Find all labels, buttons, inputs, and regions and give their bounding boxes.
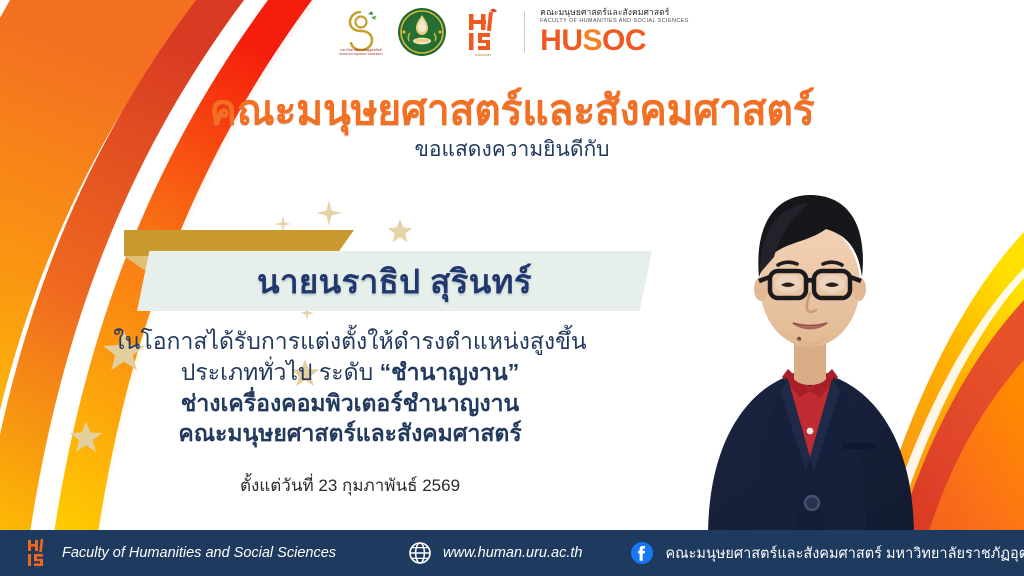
footer-brand: Faculty of Humanities and Social Science… — [24, 538, 336, 568]
uru-anniversary-emblem-icon: มหาวิทยาลัยราชภัฏอุตรดิตถ์ UTTARADIT RAJ… — [335, 6, 387, 58]
header-logo-row: มหาวิทยาลัยราชภัฏอุตรดิตถ์ UTTARADIT RAJ… — [0, 6, 1024, 58]
svg-text:HUMANITIES: HUMANITIES — [475, 53, 492, 57]
husoc-wordmark-oc: OC — [602, 24, 646, 57]
citation-line-2-prefix: ประเภททั่วไป ระดับ — [181, 359, 380, 385]
congratulations-banner: มหาวิทยาลัยราชภัฏอุตรดิตถ์ UTTARADIT RAJ… — [0, 0, 1024, 576]
footer-bar: Faculty of Humanities and Social Science… — [0, 530, 1024, 576]
huhs-monogram-icon — [24, 538, 50, 568]
husoc-wordmark: HUSOC — [540, 26, 689, 56]
husoc-wordmark-s: S — [583, 24, 603, 57]
footer-facebook-link[interactable]: คณะมนุษยศาสตร์และสังคมศาสตร์ มหาวิทยาลัย… — [630, 541, 1024, 565]
five-point-star-icon — [387, 218, 413, 249]
footer-website-link[interactable]: www.human.uru.ac.th — [408, 541, 582, 565]
sparkle-star-icon — [316, 200, 342, 231]
huhs-monogram-icon: HUMANITIES — [457, 6, 509, 58]
honoree-name: นายนราธิป สุรินทร์ — [257, 255, 532, 308]
citation-line-2-level: “ชำนาญงาน” — [380, 359, 520, 385]
citation-line-2: ประเภททั่วไป ระดับ “ชำนาญงาน” — [70, 357, 630, 388]
husoc-wordmark-hu: HU — [540, 24, 582, 57]
citation-line-4: คณะมนุษยศาสตร์และสังคมศาสตร์ — [70, 418, 630, 449]
footer-facebook-name: คณะมนุษยศาสตร์และสังคมศาสตร์ มหาวิทยาลัย… — [665, 542, 1024, 565]
logo-divider — [524, 11, 525, 53]
citation-text: ในโอกาสได้รับการแต่งตั้งให้ดำรงตำแหน่งสู… — [70, 326, 630, 449]
honoree-name-ribbon: นายนราธิป สุรินทร์ — [137, 251, 652, 311]
footer-faculty-name: Faculty of Humanities and Social Science… — [62, 545, 336, 561]
honoree-portrait — [660, 125, 960, 537]
husoc-wordmark-block: คณะมนุษยศาสตร์และสังคมศาสตร์ FACULTY OF … — [540, 8, 689, 55]
citation-line-3: ช่างเครื่องคอมพิวเตอร์ชำนาญงาน — [70, 388, 630, 419]
royal-seal-emblem-icon — [396, 6, 448, 58]
husoc-thai-name: คณะมนุษยศาสตร์และสังคมศาสตร์ — [540, 8, 689, 17]
congratulation-subtitle: ขอแสดงความยินดีกับ — [0, 133, 1024, 166]
globe-icon — [408, 541, 432, 565]
facebook-icon — [630, 541, 654, 565]
citation-line-1: ในโอกาสได้รับการแต่งตั้งให้ดำรงตำแหน่งสู… — [70, 326, 630, 357]
svg-text:UTTARADIT RAJABHAT UNIVERSITY: UTTARADIT RAJABHAT UNIVERSITY — [339, 52, 384, 56]
footer-website-url: www.human.uru.ac.th — [443, 545, 582, 561]
effective-date: ตั้งแต่วันที่ 23 กุมภาพันธ์ 2569 — [70, 472, 630, 499]
